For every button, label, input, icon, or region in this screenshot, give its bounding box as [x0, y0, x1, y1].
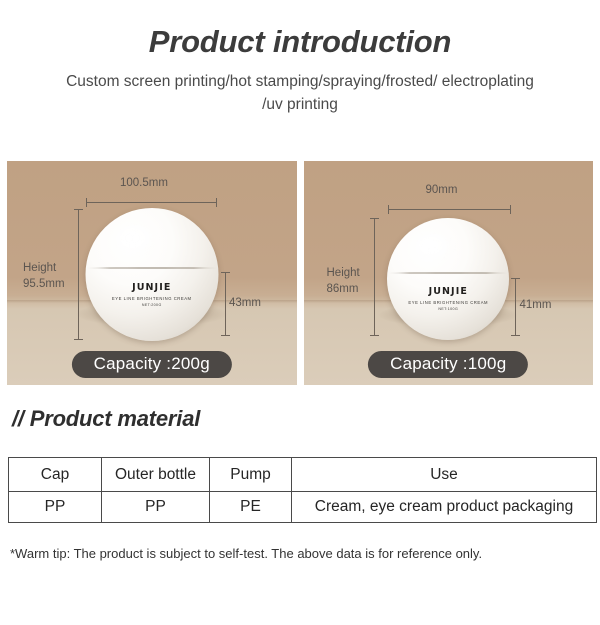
depth-dimension-label-200g: 43mm	[229, 297, 261, 309]
depth-dimension-line-100g	[515, 278, 516, 336]
jar-brand-text: JUNJIE	[85, 282, 218, 294]
page-subtitle: Custom screen printing/hot stamping/spra…	[65, 71, 535, 116]
height-dimension-word: Height	[327, 266, 360, 282]
table-header-use: Use	[292, 458, 597, 492]
jar-label-200g: JUNJIE EYE LINE BRIGHTENING CREAM NET:20…	[85, 282, 218, 307]
jar-netweight-text: NET:200G	[85, 303, 218, 307]
capacity-badge-200g: Capacity :200g	[72, 351, 232, 378]
warm-tip-note: *Warm tip: The product is subject to sel…	[10, 546, 482, 561]
height-dimension-word: Height	[23, 261, 65, 277]
table-cell-cap-material: PP	[9, 492, 102, 523]
width-dimension-line-200g	[86, 202, 217, 203]
width-dimension-label-100g: 90mm	[426, 184, 458, 196]
height-dimension-value: 86mm	[327, 282, 360, 298]
table-row: PP PP PE Cream, eye cream product packag…	[9, 492, 597, 523]
jar-highlight	[115, 224, 160, 259]
table-header-pump: Pump	[210, 458, 292, 492]
height-dimension-label-200g: Height 95.5mm	[23, 261, 65, 292]
jar-label-100g: JUNJIE EYE LINE BRIGHTENING CREAM NET:10…	[387, 286, 509, 311]
table-header-outer-bottle: Outer bottle	[102, 458, 210, 492]
page-title: Product introduction	[0, 25, 600, 59]
product-panel-200g: JUNJIE EYE LINE BRIGHTENING CREAM NET:20…	[7, 161, 297, 385]
table-cell-outer-material: PP	[102, 492, 210, 523]
jar-netweight-text: NET:100G	[387, 307, 509, 311]
height-dimension-line-200g	[78, 209, 79, 340]
table-header-cap: Cap	[9, 458, 102, 492]
capacity-badge-100g: Capacity :100g	[368, 351, 528, 378]
table-cell-use: Cream, eye cream product packaging	[292, 492, 597, 523]
product-panels: JUNJIE EYE LINE BRIGHTENING CREAM NET:20…	[7, 161, 593, 385]
height-dimension-label-100g: Height 86mm	[327, 266, 360, 297]
width-dimension-line-100g	[388, 209, 511, 210]
jar-brand-text: JUNJIE	[387, 286, 509, 298]
depth-dimension-line-200g	[225, 272, 226, 336]
width-dimension-label-200g: 100.5mm	[120, 177, 168, 189]
jar-100g: JUNJIE EYE LINE BRIGHTENING CREAM NET:10…	[387, 218, 509, 340]
jar-highlight	[414, 233, 455, 265]
table-cell-pump-material: PE	[210, 492, 292, 523]
depth-dimension-label-100g: 41mm	[520, 299, 552, 311]
table-header-row: Cap Outer bottle Pump Use	[9, 458, 597, 492]
product-panel-100g: JUNJIE EYE LINE BRIGHTENING CREAM NET:10…	[304, 161, 594, 385]
material-table: Cap Outer bottle Pump Use PP PP PE Cream…	[8, 457, 597, 523]
jar-tagline-text: EYE LINE BRIGHTENING CREAM	[387, 300, 509, 305]
height-dimension-line-100g	[374, 218, 375, 336]
jar-200g: JUNJIE EYE LINE BRIGHTENING CREAM NET:20…	[85, 208, 218, 341]
jar-tagline-text: EYE LINE BRIGHTENING CREAM	[85, 296, 218, 301]
height-dimension-value: 95.5mm	[23, 277, 65, 293]
section-title-product-material: // Product material	[12, 406, 200, 432]
